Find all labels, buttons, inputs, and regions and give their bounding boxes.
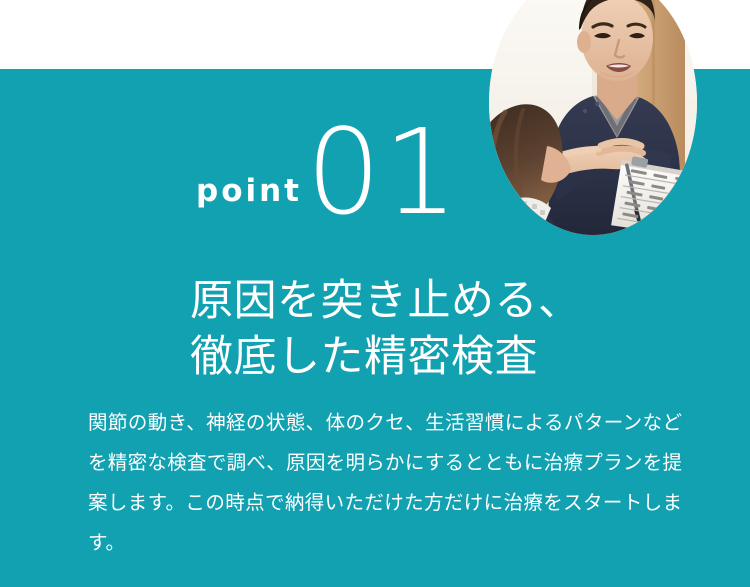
- point-number: 01: [306, 113, 460, 231]
- body-paragraph: 関節の動き、神経の状態、体のクセ、生活習慣によるパターンなどを精密な検査で調べ、…: [88, 403, 682, 563]
- point-badge: point 01: [0, 113, 430, 213]
- point-label: point: [196, 176, 302, 207]
- staff-photo-circle: [489, 0, 697, 235]
- staff-photo-illustration: [489, 0, 697, 235]
- staff-photo: [489, 0, 697, 235]
- point-card: point 01 原因を突き止める、 徹底した精密検査 関節の動き、神経の状態、…: [0, 0, 750, 587]
- page-title: 原因を突き止める、 徹底した精密検査: [190, 274, 710, 388]
